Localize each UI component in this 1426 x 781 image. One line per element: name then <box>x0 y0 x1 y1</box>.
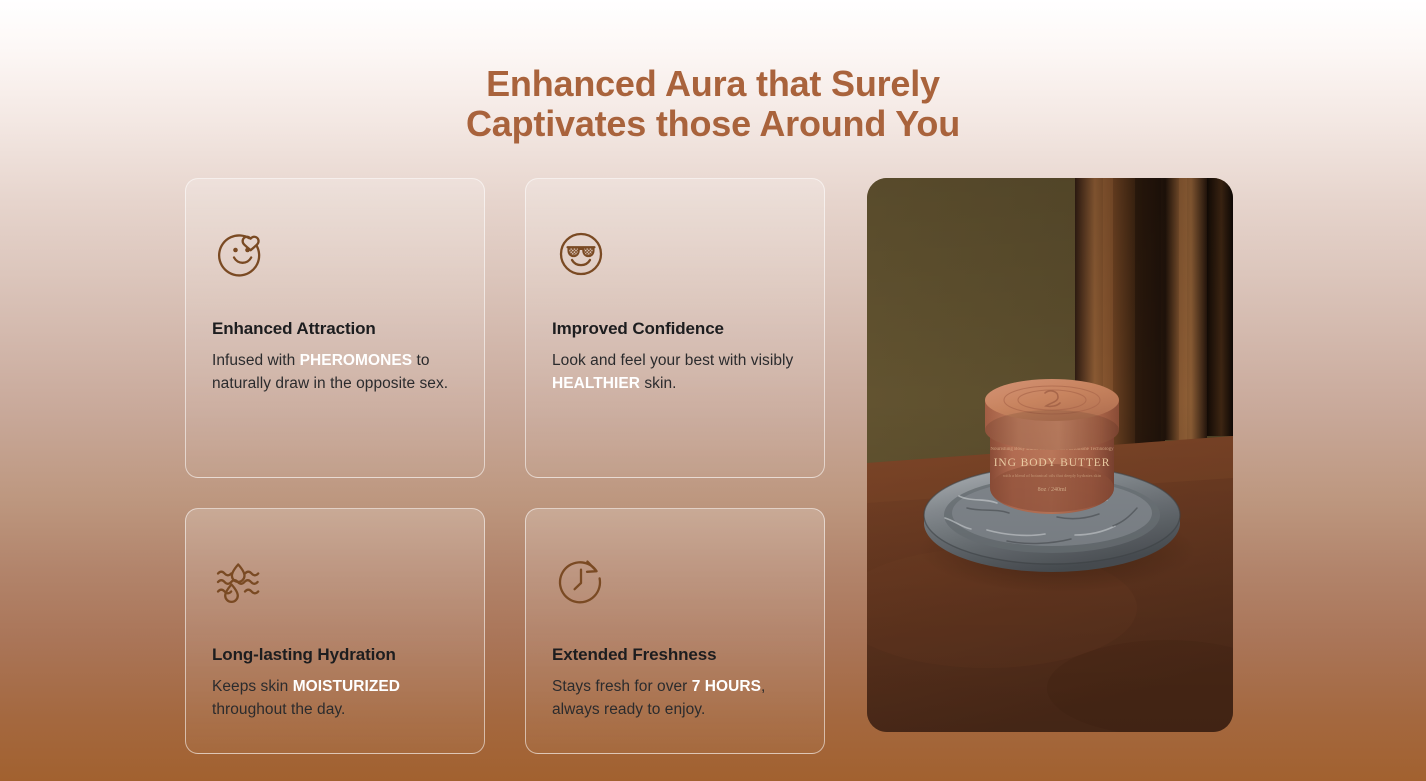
desc-text-before: Look and feel your best with visibly <box>552 352 793 369</box>
page-title-line-2: Captivates those Around You <box>0 104 1426 144</box>
desc-highlight: MOISTURIZED <box>293 678 400 695</box>
benefit-card-title: Improved Confidence <box>552 319 798 339</box>
sunglasses-face-icon <box>552 225 610 283</box>
benefit-card-title: Long-lasting Hydration <box>212 645 458 665</box>
benefit-card-title: Enhanced Attraction <box>212 319 458 339</box>
desc-text-after: throughout the day. <box>212 701 345 718</box>
desc-text-after: skin. <box>640 375 676 392</box>
desc-text-before: Stays fresh for over <box>552 678 692 695</box>
benefit-card-enhanced-attraction[interactable]: Enhanced Attraction Infused with PHEROMO… <box>185 178 485 478</box>
page-title-line-1: Enhanced Aura that Surely <box>0 64 1426 104</box>
page-heading: Enhanced Aura that Surely Captivates tho… <box>0 0 1426 145</box>
desc-text-before: Keeps skin <box>212 678 293 695</box>
benefit-card-extended-freshness[interactable]: Extended Freshness Stays fresh for over … <box>525 508 825 754</box>
benefit-card-description: Infused with PHEROMONES to naturally dra… <box>212 350 458 395</box>
product-image: ING BODY BUTTER Nourishing Body Butter i… <box>867 178 1233 732</box>
benefit-card-title: Extended Freshness <box>552 645 798 665</box>
desc-highlight: 7 HOURS <box>692 678 761 695</box>
page-title: Enhanced Aura that Surely Captivates tho… <box>0 64 1426 145</box>
content-area: Enhanced Attraction Infused with PHEROMO… <box>185 178 1241 754</box>
benefit-card-long-lasting-hydration[interactable]: Long-lasting Hydration Keeps skin MOISTU… <box>185 508 485 754</box>
water-droplets-waves-icon <box>212 553 270 611</box>
desc-text-before: Infused with <box>212 352 300 369</box>
benefit-card-description: Stays fresh for over 7 HOURS, always rea… <box>552 676 798 721</box>
benefit-card-description: Keeps skin MOISTURIZED throughout the da… <box>212 676 458 721</box>
desc-highlight: HEALTHIER <box>552 375 640 392</box>
desc-highlight: PHEROMONES <box>300 352 412 369</box>
benefit-card-grid: Enhanced Attraction Infused with PHEROMO… <box>185 178 825 754</box>
benefit-card-improved-confidence[interactable]: Improved Confidence Look and feel your b… <box>525 178 825 478</box>
smiley-heart-icon <box>212 225 270 283</box>
benefit-card-description: Look and feel your best with visibly HEA… <box>552 350 798 395</box>
clock-rotate-icon <box>552 553 610 611</box>
